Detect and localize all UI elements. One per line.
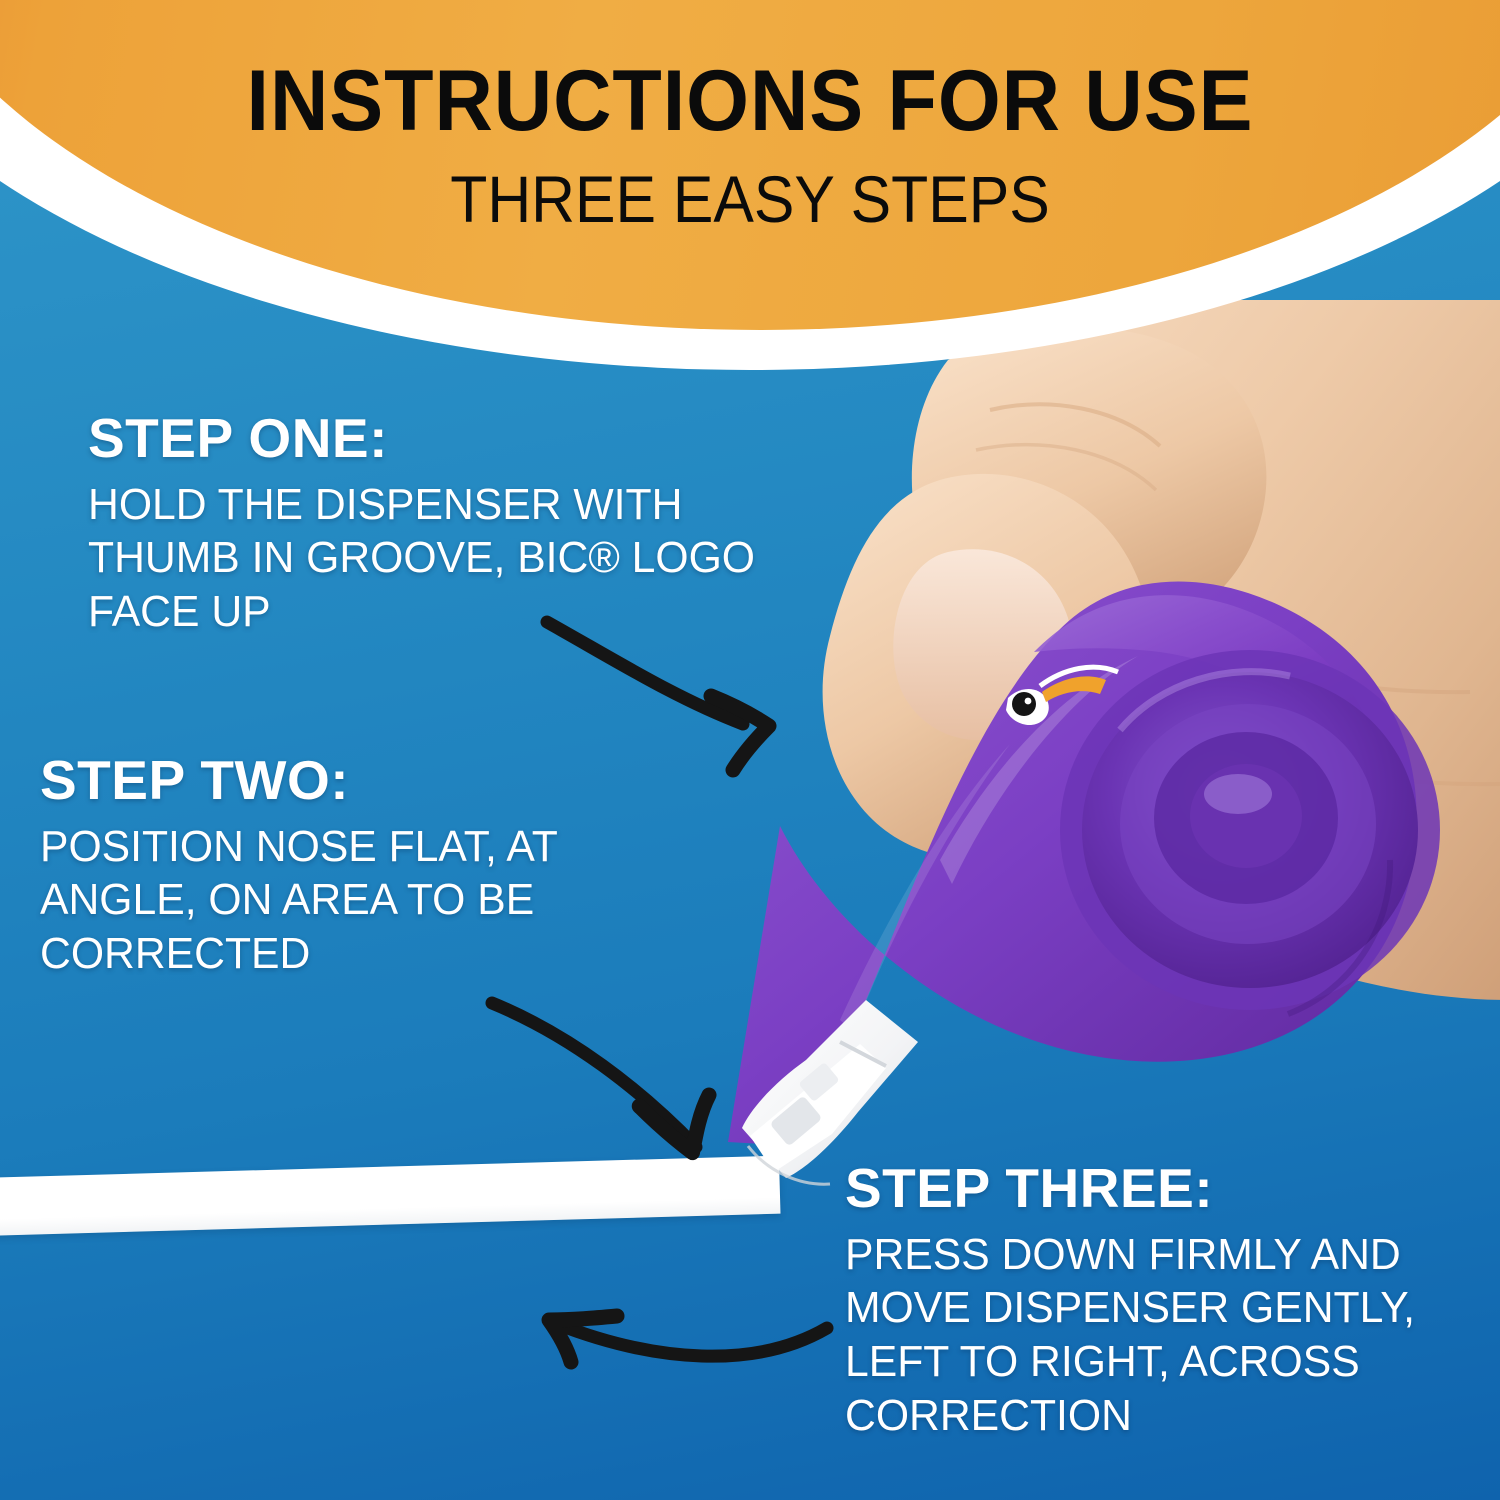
step-two-block: STEP TWO: POSITION NOSE FLAT, AT ANGLE, … [40, 752, 660, 981]
step-three-title: STEP THREE: [845, 1160, 1485, 1218]
infographic-canvas: INSTRUCTIONS FOR USE THREE EASY STEPS ST… [0, 0, 1500, 1500]
arrow-step-three-icon [505, 1250, 855, 1400]
step-one-body: HOLD THE DISPENSER WITH THUMB IN GROOVE,… [88, 478, 825, 639]
step-two-title: STEP TWO: [40, 752, 660, 810]
correction-tape-strip [0, 1156, 780, 1236]
page-title: INSTRUCTIONS FOR USE [45, 58, 1455, 144]
page-subtitle: THREE EASY STEPS [60, 166, 1440, 232]
step-three-body: PRESS DOWN FIRMLY AND MOVE DISPENSER GEN… [845, 1228, 1466, 1443]
step-one-block: STEP ONE: HOLD THE DISPENSER WITH THUMB … [88, 410, 848, 639]
step-one-title: STEP ONE: [88, 410, 848, 468]
step-two-body: POSITION NOSE FLAT, AT ANGLE, ON AREA TO… [40, 820, 641, 981]
step-three-block: STEP THREE: PRESS DOWN FIRMLY AND MOVE D… [845, 1160, 1485, 1442]
header-banner: INSTRUCTIONS FOR USE THREE EASY STEPS [0, 0, 1500, 400]
